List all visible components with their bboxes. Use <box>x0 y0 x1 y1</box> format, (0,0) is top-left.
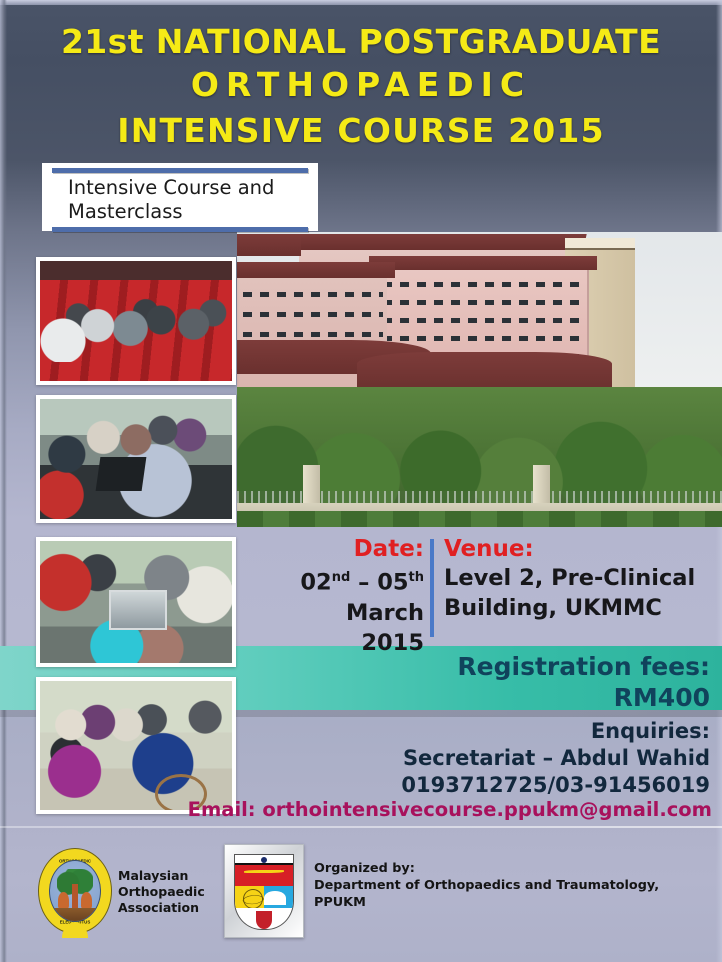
moa-logo-label: Malaysian Orthopaedic Association <box>118 868 228 916</box>
date-sup-nd: nd <box>332 570 351 585</box>
footer-divider <box>0 826 722 828</box>
registration-fees-amount: RM400 <box>250 682 710 713</box>
moa-figure-right <box>81 892 92 909</box>
enquiries-email[interactable]: Email: orthointensivecourse.ppukm@gmail.… <box>112 798 712 822</box>
venue-column: Venue: Level 2, Pre-Clinical Building, U… <box>444 535 722 623</box>
date-label: Date: <box>300 535 424 563</box>
ukm-tiger-icon <box>244 870 283 873</box>
poster-root: 21st NATIONAL POSTGRADUATE ORTHOPAEDIC I… <box>0 0 722 962</box>
frame-top-border <box>0 0 722 5</box>
date-day-range: 02nd – 05th <box>300 563 424 598</box>
venue-line-1: Level 2, Pre-Clinical <box>444 563 722 593</box>
photo-xray-review <box>36 537 236 667</box>
date-venue-block: Date: 02nd – 05th March 2015 Venue: Leve… <box>300 535 722 640</box>
date-sup-th: th <box>409 570 424 585</box>
date-month-year: March 2015 <box>300 598 424 658</box>
moa-ground <box>50 908 100 921</box>
subtitle-rule-bottom <box>52 227 308 232</box>
date-day-start: 02 <box>300 570 331 596</box>
title-line-2: ORTHOPAEDIC <box>0 62 722 108</box>
venue-line-2: Building, UKMMC <box>444 593 722 623</box>
venue-label: Venue: <box>444 535 722 563</box>
organized-by-text: Organized by: Department of Orthopaedics… <box>314 860 714 911</box>
ukm-red-quadrant <box>235 865 293 886</box>
laptop-icon <box>95 457 146 491</box>
malaysian-orthopaedic-association-logo-icon: ORTHOPAEDIC ELEUS TUTUS <box>38 848 112 934</box>
title-line-1: 21st NATIONAL POSTGRADUATE <box>0 22 722 62</box>
roof-main <box>369 256 597 270</box>
photo-auditorium <box>36 257 236 385</box>
registration-fees-label: Registration fees: <box>250 651 710 682</box>
workshop-image <box>40 399 232 519</box>
enquiries-contact-name: Secretariat – Abdul Wahid <box>190 745 710 772</box>
enquiries-label: Enquiries: <box>190 718 710 745</box>
moa-figure-left <box>58 892 69 909</box>
hospital-building-photo <box>237 232 722 527</box>
date-dash: – 05 <box>350 570 408 596</box>
ukm-keris-icon <box>264 891 286 905</box>
date-venue-divider <box>430 539 434 637</box>
subtitle-box: Intensive Course and Masterclass <box>42 163 318 231</box>
footer-block: ORTHOPAEDIC ELEUS TUTUS Malaysian Orthop… <box>0 830 722 962</box>
roof-left <box>237 262 395 278</box>
ukm-shield <box>234 854 294 930</box>
xray-image <box>40 541 232 663</box>
auditorium-audience <box>40 292 232 362</box>
xray-screen <box>109 590 167 630</box>
registration-fees-block: Registration fees: RM400 <box>250 651 710 713</box>
roof-corner <box>237 234 301 256</box>
enquiries-phone-numbers: 0193712725/03-91456019 <box>190 772 710 799</box>
photo-workshop <box>36 395 236 523</box>
poster-title: 21st NATIONAL POSTGRADUATE ORTHOPAEDIC I… <box>0 22 722 154</box>
ukm-crest-logo-icon <box>224 844 304 938</box>
auditorium-image <box>40 261 232 381</box>
date-column: Date: 02nd – 05th March 2015 <box>300 535 424 658</box>
hedge-row <box>237 511 722 527</box>
moa-emblem <box>49 860 101 922</box>
roof-lower-center <box>357 352 612 392</box>
roof-rear <box>283 234 586 250</box>
enquiries-block: Enquiries: Secretariat – Abdul Wahid 019… <box>190 718 710 799</box>
title-line-3: INTENSIVE COURSE 2015 <box>0 108 722 154</box>
subtitle-text: Intensive Course and Masterclass <box>50 173 310 224</box>
